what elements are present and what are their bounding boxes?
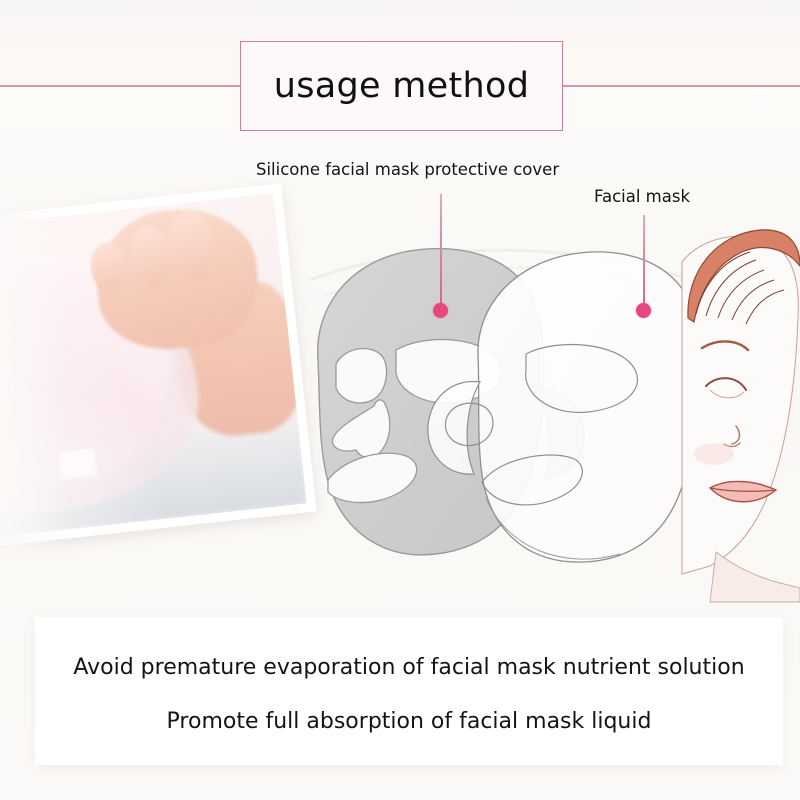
- product-infographic: Silicone facial mask protective cover Fa…: [0, 0, 800, 800]
- photo-image: [0, 193, 307, 547]
- benefit-line-1: Avoid premature evaporation of facial ma…: [35, 655, 783, 680]
- callout-label-silicone: Silicone facial mask protective cover: [256, 160, 559, 179]
- silicone-mask-photo: [0, 183, 317, 556]
- photo-edge-fade: [0, 193, 307, 547]
- leader-line-facial-mask: [643, 215, 645, 311]
- benefit-line-2: Promote full absorption of facial mask l…: [35, 709, 783, 734]
- benefits-card: Avoid premature evaporation of facial ma…: [35, 617, 783, 765]
- leader-line-silicone: [440, 194, 442, 311]
- mask-diagram: [300, 230, 720, 580]
- section-title-box: usage method: [240, 41, 563, 131]
- callout-dot-facial-mask: [636, 303, 651, 318]
- callout-label-facial-mask: Facial mask: [594, 187, 690, 206]
- page-title: usage method: [274, 69, 530, 104]
- callout-dot-silicone: [433, 303, 448, 318]
- illustrated-face: [680, 222, 800, 602]
